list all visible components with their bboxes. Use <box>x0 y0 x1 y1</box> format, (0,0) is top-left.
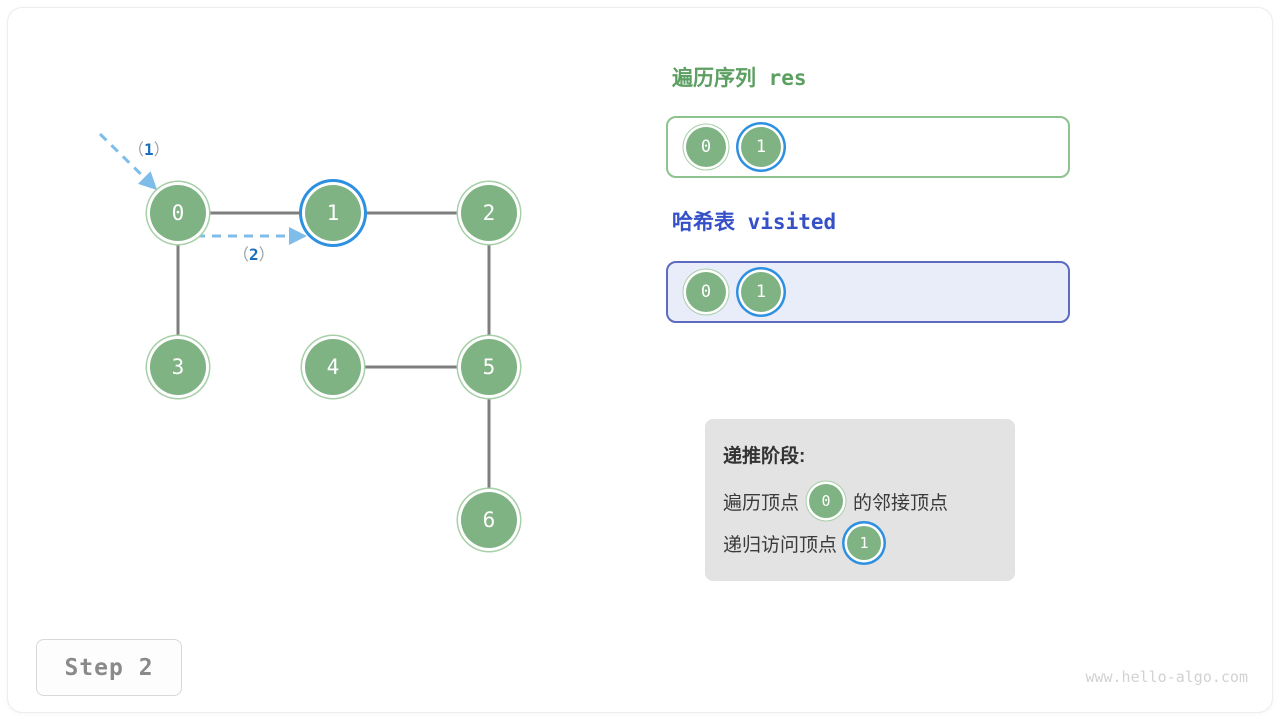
graph-node-1[interactable]: 1 <box>305 185 361 241</box>
graph-node-3[interactable]: 3 <box>150 339 206 395</box>
explanation-chip-1: 1 <box>847 526 881 560</box>
explanation-line-1-before: 遍历顶点 <box>723 488 799 515</box>
explanation-heading: 递推阶段: <box>723 441 1015 468</box>
visited-chip-1: 1 <box>741 272 781 312</box>
res-chip-0: 0 <box>686 127 726 167</box>
explanation-line-2: 递归访问顶点 1 <box>723 526 1015 560</box>
explanation-box: 递推阶段: 遍历顶点 0 的邻接顶点 递归访问顶点 1 <box>705 419 1015 581</box>
res-chip-1: 1 <box>741 127 781 167</box>
watermark: www.hello-algo.com <box>1085 668 1248 686</box>
arrow-label-step1: （1） <box>128 136 170 160</box>
visited-title: 哈希表 visited <box>672 206 836 236</box>
graph-node-4[interactable]: 4 <box>305 339 361 395</box>
visited-chip-0: 0 <box>686 272 726 312</box>
graph-node-2[interactable]: 2 <box>461 185 517 241</box>
graph-area: 0123456 （1）（2） <box>0 0 640 720</box>
graph-node-6[interactable]: 6 <box>461 492 517 548</box>
visited-hashtable-box: 01 <box>666 261 1070 323</box>
graph-node-5[interactable]: 5 <box>461 339 517 395</box>
slide-canvas: 0123456 （1）（2） 遍历序列 res 01 哈希表 visited 0… <box>0 0 1280 720</box>
step-badge: Step 2 <box>36 639 182 696</box>
right-panel: 遍历序列 res 01 哈希表 visited 01 递推阶段: 遍历顶点 0 … <box>666 0 1266 720</box>
explanation-line-2-before: 递归访问顶点 <box>723 530 837 557</box>
res-sequence-box: 01 <box>666 116 1070 178</box>
explanation-line-1: 遍历顶点 0 的邻接顶点 <box>723 484 1015 518</box>
graph-node-0[interactable]: 0 <box>150 185 206 241</box>
arrow-label-step2: （2） <box>233 241 275 265</box>
explanation-chip-0: 0 <box>809 484 843 518</box>
explanation-line-1-after: 的邻接顶点 <box>853 488 948 515</box>
res-title: 遍历序列 res <box>672 62 807 92</box>
